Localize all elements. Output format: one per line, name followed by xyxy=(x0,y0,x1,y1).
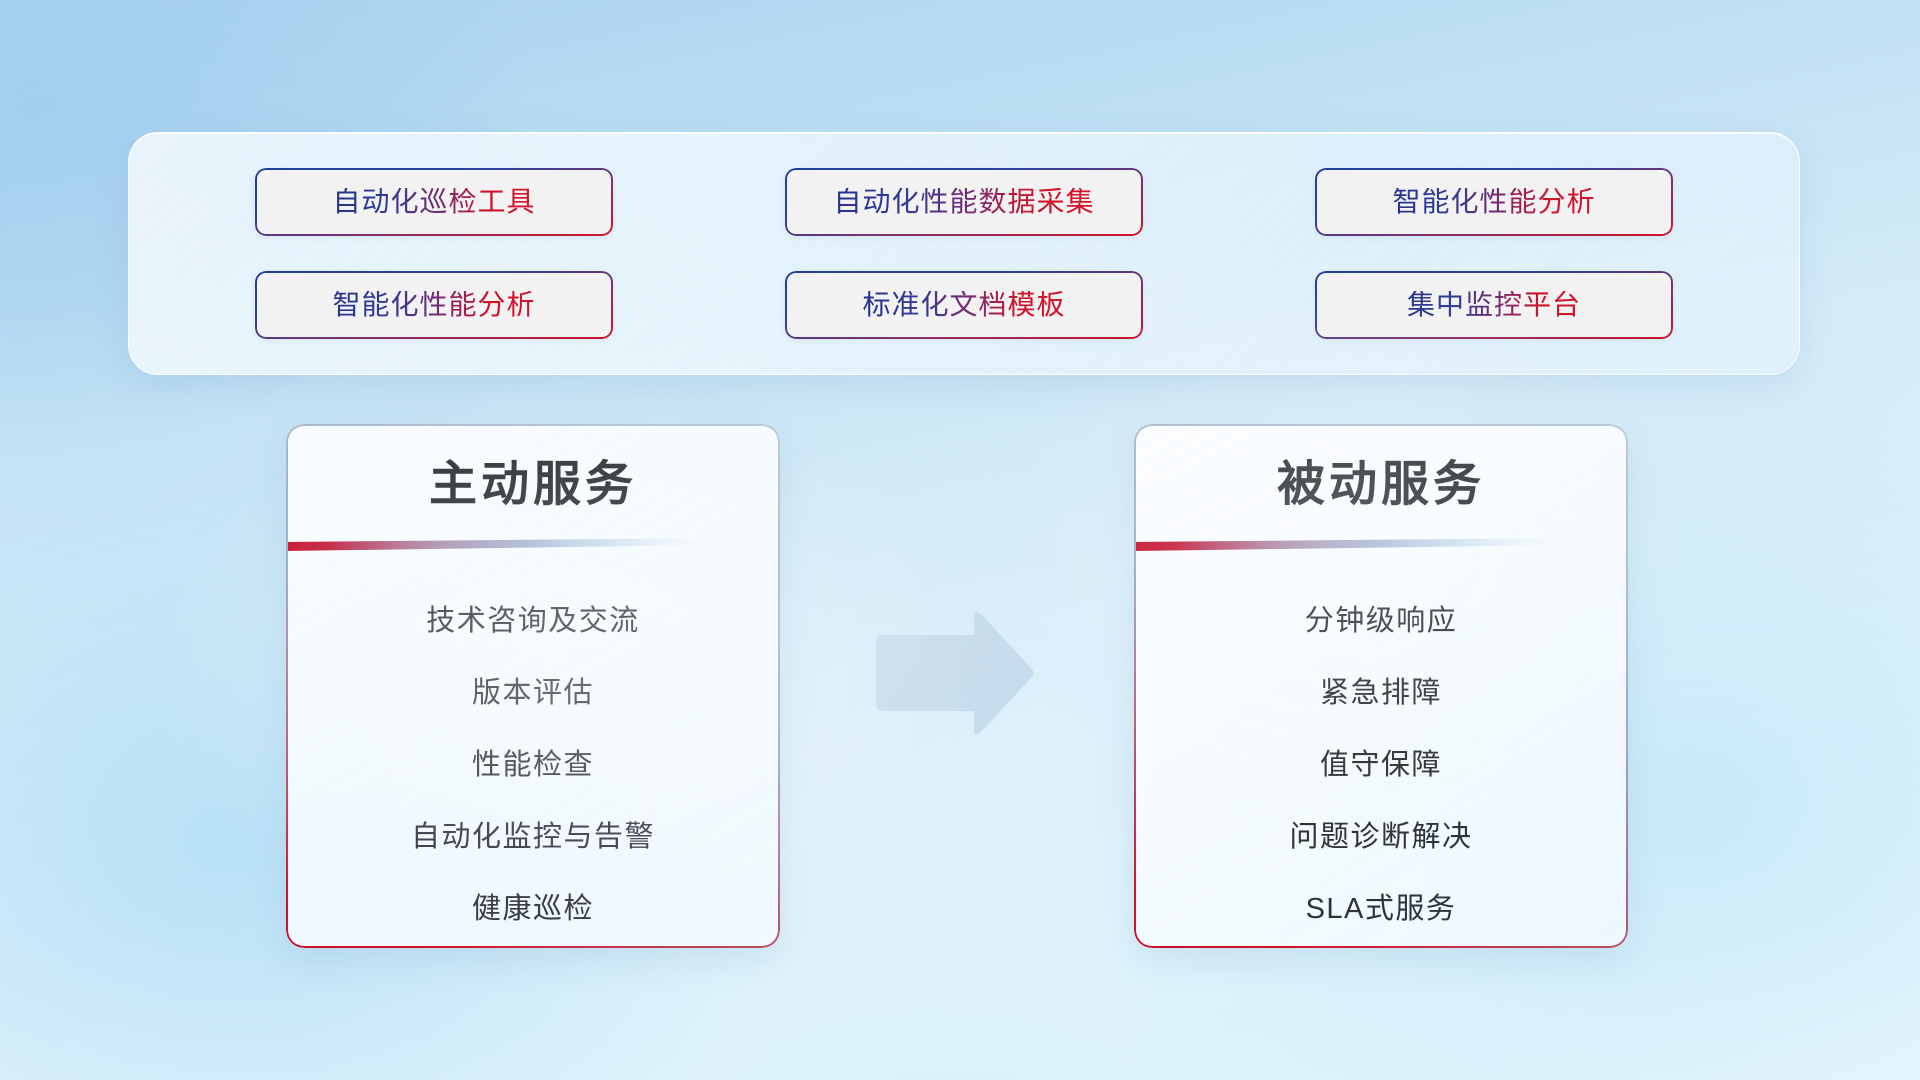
capability-chip-label: 集中监控平台 xyxy=(1407,291,1581,319)
card-list-item: 紧急排障 xyxy=(1320,658,1442,730)
capability-chip[interactable]: 自动化巡检工具 xyxy=(255,168,613,236)
capability-chip[interactable]: 自动化性能数据采集 xyxy=(785,168,1143,236)
capability-chip-label: 自动化性能数据采集 xyxy=(833,188,1094,216)
capability-chip-label: 智能化性能分析 xyxy=(1392,188,1595,216)
card-list-item: 问题诊断解决 xyxy=(1289,802,1472,874)
slide-canvas: 自动化巡检工具 自动化性能数据采集 智能化性能分析 智能化性能分析 标准化文档模… xyxy=(0,0,1920,1080)
card-list-item: 版本评估 xyxy=(472,658,594,730)
card-list-item: 性能检查 xyxy=(472,730,594,802)
arrow-right-icon xyxy=(868,610,1034,735)
capability-chip[interactable]: 智能化性能分析 xyxy=(255,271,613,339)
capability-chip-label: 自动化巡检工具 xyxy=(332,188,535,216)
service-card-reactive: 被动服务 分钟级响应 紧急排障 值守保障 问题诊断解决 SLA式服务 xyxy=(1134,424,1628,948)
capability-chip-label: 标准化文档模板 xyxy=(862,291,1065,319)
card-list-item: 技术咨询及交流 xyxy=(426,586,640,658)
capability-chip[interactable]: 智能化性能分析 xyxy=(1315,168,1673,236)
card-item-list: 分钟级响应 紧急排障 值守保障 问题诊断解决 SLA式服务 xyxy=(1134,586,1628,946)
card-list-item: 自动化监控与告警 xyxy=(411,802,655,874)
card-list-item: SLA式服务 xyxy=(1306,874,1457,946)
service-card-proactive: 主动服务 技术咨询及交流 版本评估 性能检查 自动化监控与告警 健康巡检 xyxy=(286,424,780,948)
card-list-item: 值守保障 xyxy=(1320,730,1442,802)
card-list-item: 健康巡检 xyxy=(472,874,594,946)
card-list-item: 分钟级响应 xyxy=(1305,586,1458,658)
card-title: 被动服务 xyxy=(1134,459,1628,512)
capability-chip[interactable]: 标准化文档模板 xyxy=(785,271,1143,339)
card-divider-icon xyxy=(1134,538,1564,551)
card-title: 主动服务 xyxy=(286,459,780,512)
capability-chip[interactable]: 集中监控平台 xyxy=(1315,271,1673,339)
capability-tools-panel: 自动化巡检工具 自动化性能数据采集 智能化性能分析 智能化性能分析 标准化文档模… xyxy=(128,132,1800,375)
capability-chip-label: 智能化性能分析 xyxy=(332,291,535,319)
card-divider-icon xyxy=(286,538,716,551)
card-item-list: 技术咨询及交流 版本评估 性能检查 自动化监控与告警 健康巡检 xyxy=(286,586,780,946)
